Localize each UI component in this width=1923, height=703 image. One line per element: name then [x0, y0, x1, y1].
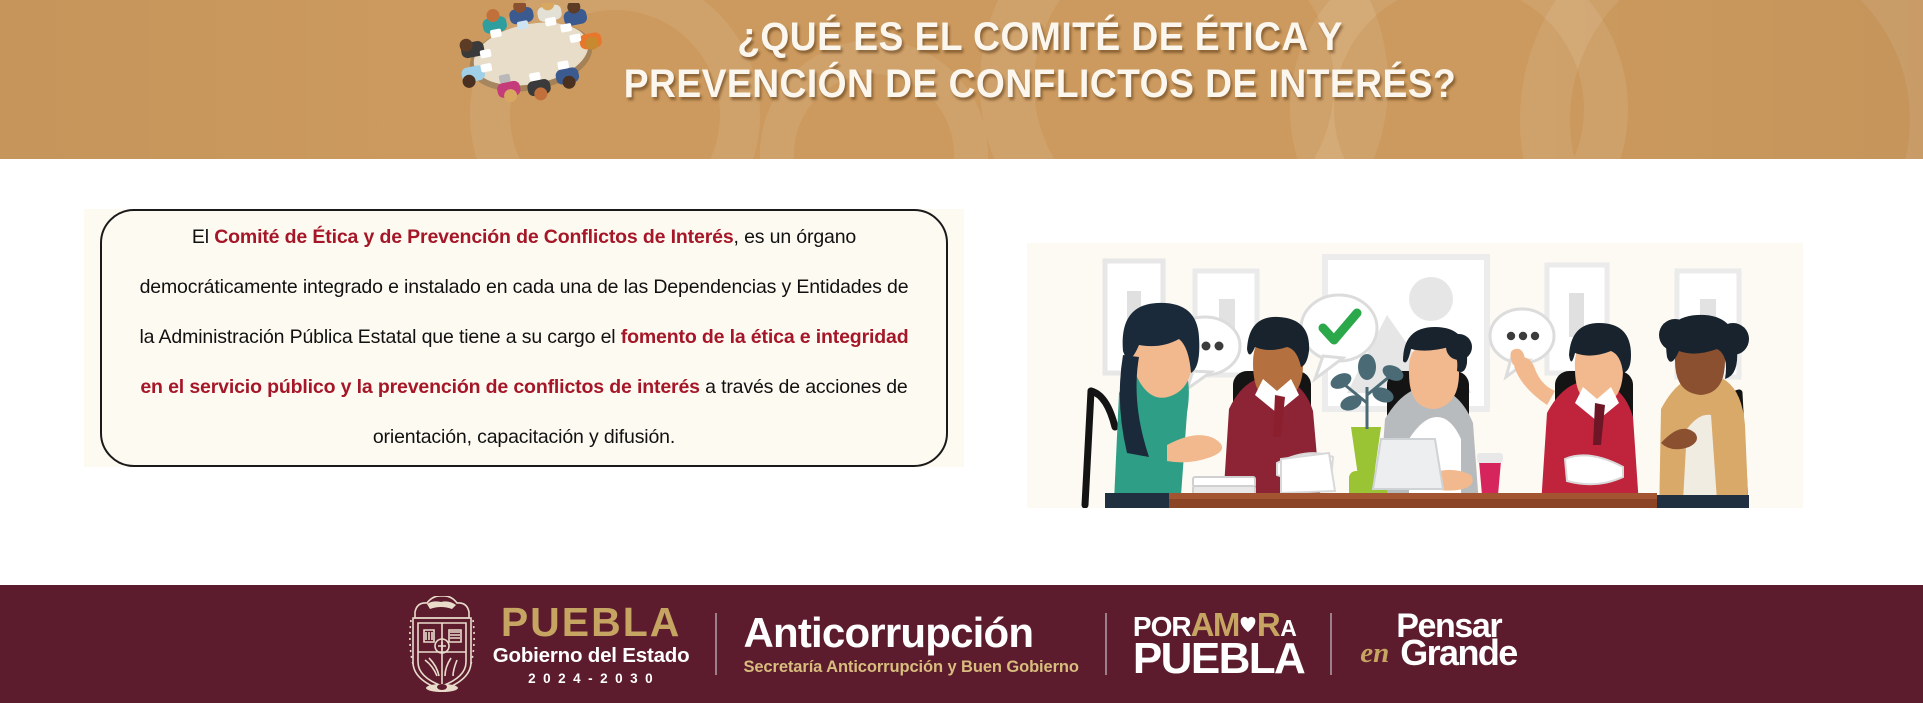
- header-title: ¿QUÉ ES EL COMITÉ DE ÉTICA Y PREVENCIÓN …: [575, 14, 1505, 108]
- amor-puebla-word: PUEBLA: [1133, 637, 1304, 681]
- infographic-page: ¿QUÉ ES EL COMITÉ DE ÉTICA Y PREVENCIÓN …: [0, 0, 1923, 703]
- laptop-icon: [1373, 439, 1443, 489]
- puebla-years: 2024-2030: [493, 671, 690, 686]
- footer-divider-1: [715, 613, 717, 675]
- anticorrupcion-word: Anticorrupción: [743, 611, 1033, 655]
- heart-icon: [1237, 613, 1259, 639]
- footer-logos: PUEBLA Gobierno del Estado 2024-2030 Ant…: [405, 596, 1518, 692]
- logo-anticorrupcion: Anticorrupción Secretaría Anticorrupción…: [743, 611, 1078, 677]
- header-title-line-1: ¿QUÉ ES EL COMITÉ DE ÉTICA Y: [575, 14, 1505, 61]
- definition-card-backdrop: El Comité de Ética y de Prevención de Co…: [84, 209, 964, 467]
- conference-table: [1169, 493, 1657, 508]
- logo-pensar-en-grande: Pensar en Grande: [1358, 605, 1518, 683]
- footer-logo-bar: PUEBLA Gobierno del Estado 2024-2030 Ant…: [0, 585, 1923, 703]
- header-band: ¿QUÉ ES EL COMITÉ DE ÉTICA Y PREVENCIÓN …: [0, 0, 1923, 159]
- header-title-line-2: PREVENCIÓN DE CONFLICTOS DE INTERÉS?: [575, 61, 1505, 108]
- definition-highlight-1: Comité de Ética y de Prevención de Confl…: [214, 226, 733, 248]
- pensar-en-word: en: [1360, 639, 1389, 668]
- definition-segment-1: El: [192, 226, 214, 248]
- footer-divider-2: [1105, 613, 1107, 675]
- logo-por-amor-a-puebla: PORAMRA PUEBLA: [1133, 608, 1304, 681]
- person-5-tan: [1653, 315, 1749, 508]
- puebla-state-crest-icon: [405, 596, 479, 692]
- pensar-grande-word: Grande: [1400, 635, 1516, 671]
- puebla-word: PUEBLA: [493, 602, 690, 643]
- main-content: El Comité de Ética y de Prevención de Co…: [0, 159, 1923, 585]
- logo-gobierno-puebla: PUEBLA Gobierno del Estado 2024-2030: [405, 596, 690, 692]
- definition-text: El Comité de Ética y de Prevención de Co…: [132, 213, 916, 463]
- puebla-wordmark: PUEBLA Gobierno del Estado 2024-2030: [493, 602, 690, 686]
- definition-card: El Comité de Ética y de Prevención de Co…: [100, 209, 948, 467]
- puebla-subtitle: Gobierno del Estado: [493, 643, 690, 669]
- meeting-illustration: [1027, 243, 1803, 508]
- anticorrupcion-subtitle: Secretaría Anticorrupción y Buen Gobiern…: [743, 658, 1078, 677]
- meeting-illustration-svg: [1027, 243, 1803, 508]
- footer-divider-3: [1330, 613, 1332, 675]
